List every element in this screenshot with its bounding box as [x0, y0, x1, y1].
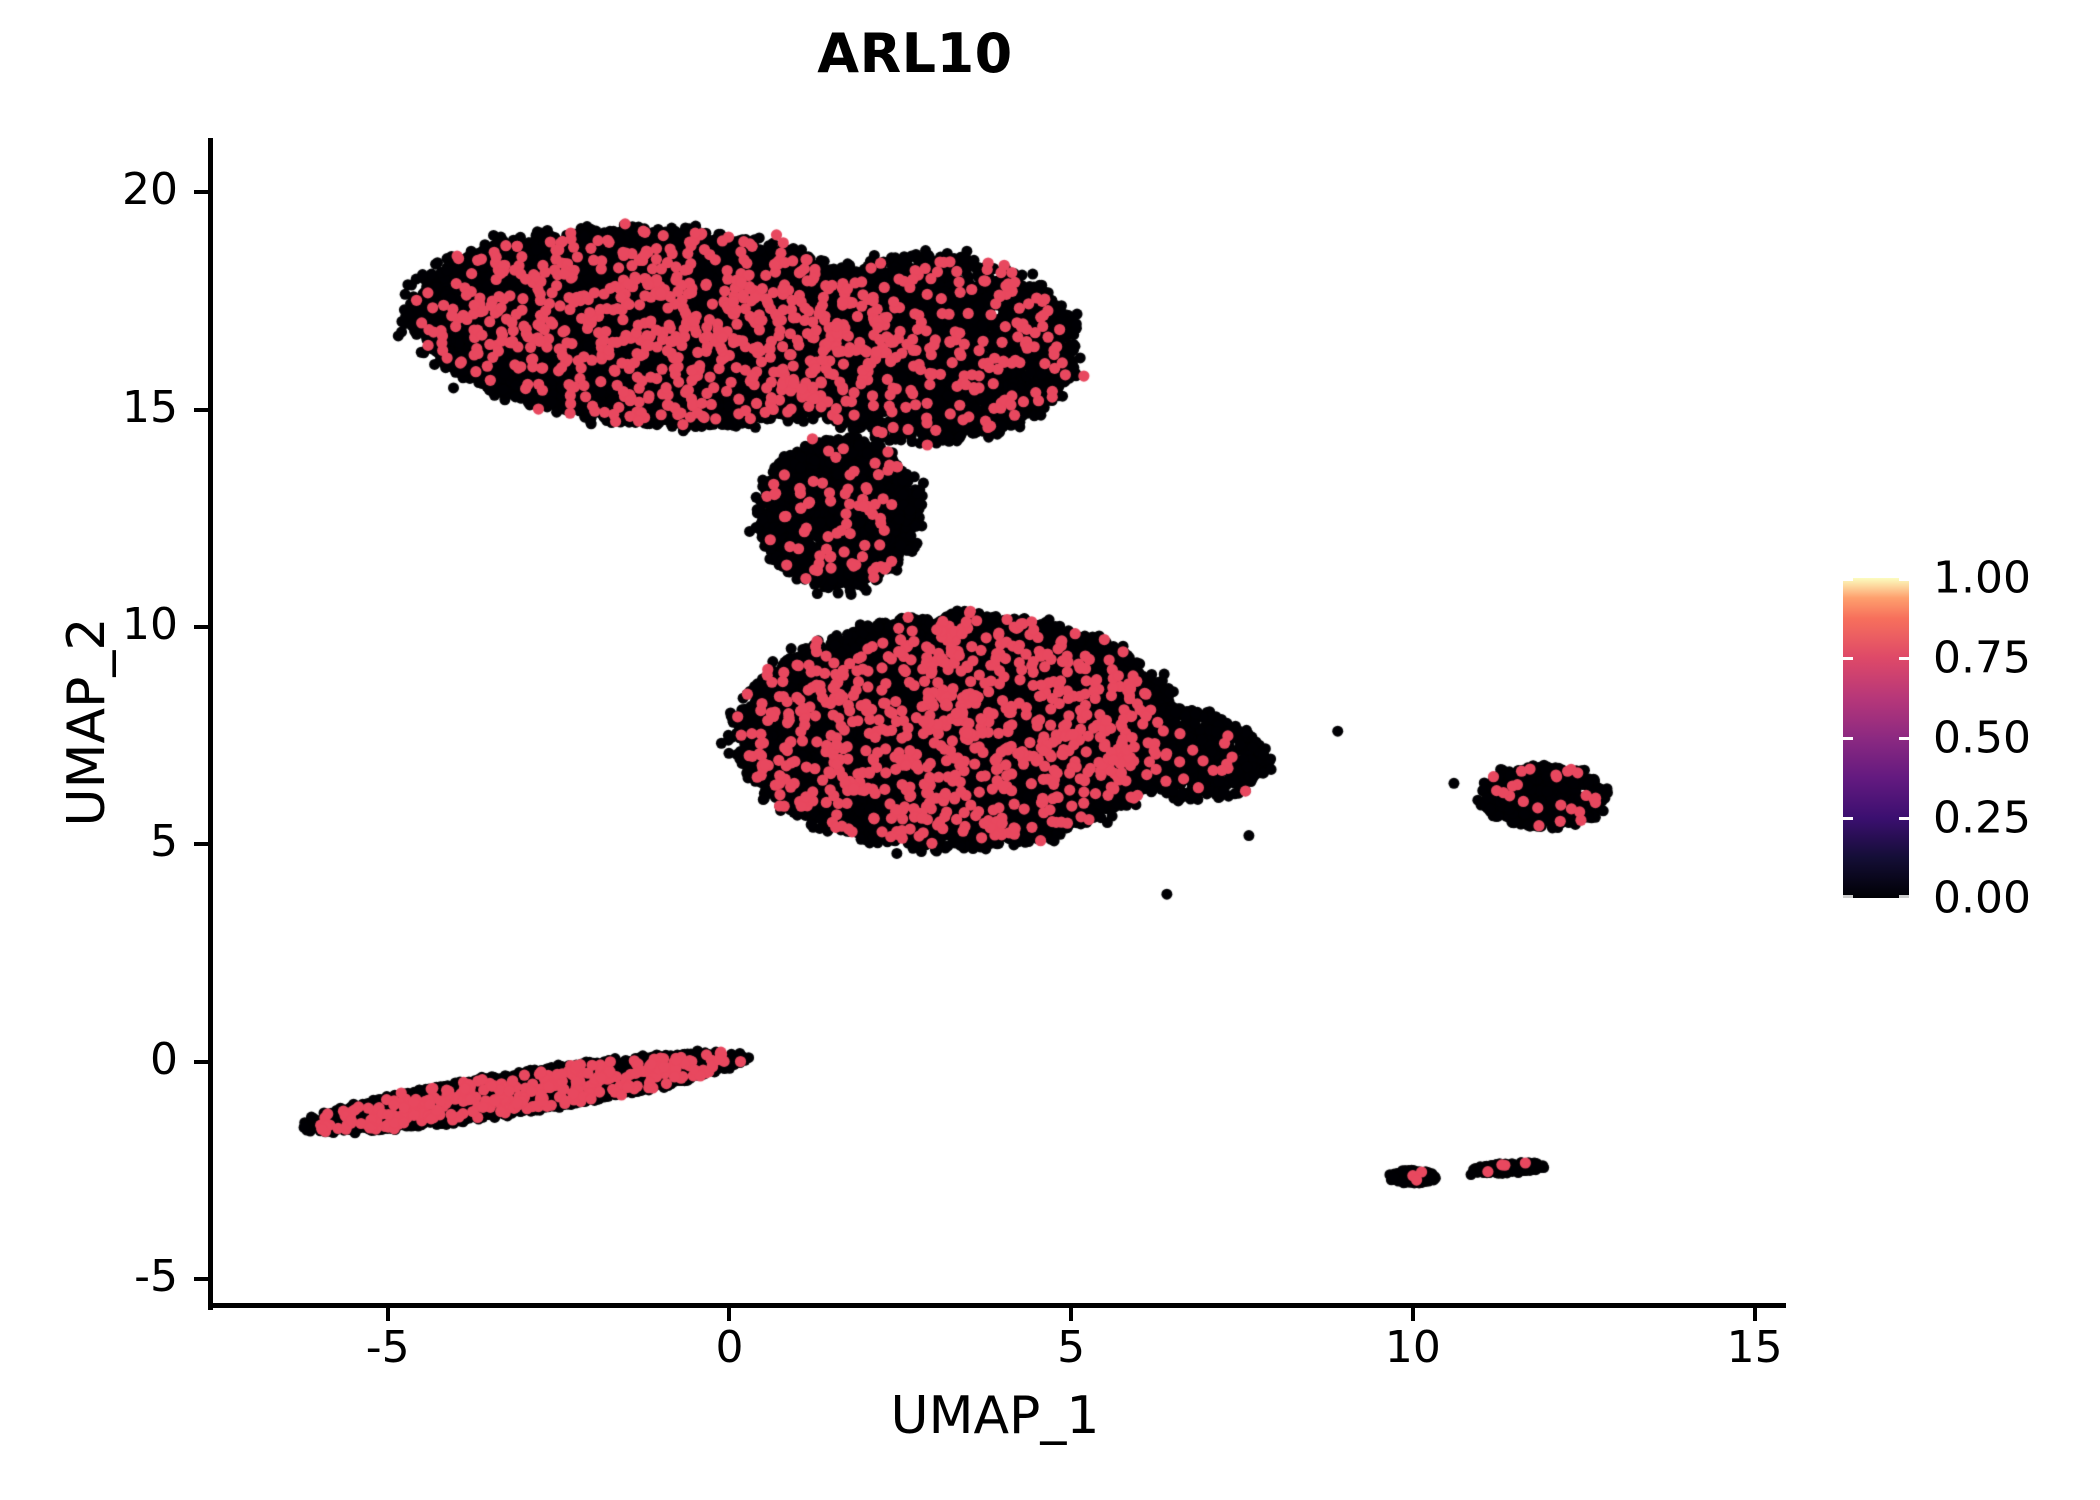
x-tick-mark — [1411, 1307, 1415, 1321]
colorbar-tick-mark — [1843, 895, 1853, 898]
x-tick-mark — [1753, 1307, 1757, 1321]
y-tick-mark — [194, 842, 208, 846]
y-tick-mark — [194, 625, 208, 629]
y-axis-spine — [208, 138, 213, 1310]
x-tick-label: 5 — [971, 1322, 1171, 1373]
y-tick-mark — [194, 408, 208, 412]
x-tick-mark — [1069, 1307, 1073, 1321]
scatter-points-canvas — [210, 140, 1782, 1305]
x-tick-label: 0 — [629, 1322, 829, 1373]
colorbar-tick-mark — [1843, 737, 1853, 740]
colorbar-tick-label: 0.50 — [1933, 713, 2031, 764]
y-tick-mark — [194, 1060, 208, 1064]
x-tick-mark — [727, 1307, 731, 1321]
umap-feature-plot-figure: ARL10 -505101520 -5051015 UMAP_2 UMAP_1 … — [0, 0, 2100, 1500]
y-axis-label: UMAP_2 — [57, 507, 117, 937]
colorbar-tick-mark — [1899, 817, 1909, 820]
colorbar-tick-mark — [1843, 578, 1853, 581]
colorbar-tick-mark — [1899, 737, 1909, 740]
x-axis-label: UMAP_1 — [740, 1386, 1250, 1446]
colorbar-tick-mark — [1899, 657, 1909, 660]
x-axis-spine — [208, 1303, 1786, 1308]
colorbar-tick-label: 0.00 — [1933, 873, 2031, 924]
x-tick-label: 10 — [1313, 1322, 1513, 1373]
colorbar-tick-mark — [1843, 817, 1853, 820]
colorbar-tick-label: 1.00 — [1933, 553, 2031, 604]
y-tick-mark — [194, 1277, 208, 1281]
x-tick-label: -5 — [288, 1322, 488, 1373]
y-tick-mark — [194, 190, 208, 194]
y-tick-label: 15 — [0, 382, 178, 433]
y-tick-label: -5 — [0, 1251, 178, 1302]
colorbar-tick-mark — [1899, 895, 1909, 898]
x-tick-mark — [386, 1307, 390, 1321]
y-tick-label: 0 — [0, 1034, 178, 1085]
colorbar-tick-label: 0.75 — [1933, 633, 2031, 684]
page-title: ARL10 — [0, 22, 1830, 85]
colorbar-tick-label: 0.25 — [1933, 793, 2031, 844]
plot-axes-area — [210, 140, 1782, 1305]
colorbar-tick-mark — [1899, 578, 1909, 581]
y-tick-label: 20 — [0, 164, 178, 215]
colorbar-tick-mark — [1843, 657, 1853, 660]
x-tick-label: 15 — [1655, 1322, 1855, 1373]
